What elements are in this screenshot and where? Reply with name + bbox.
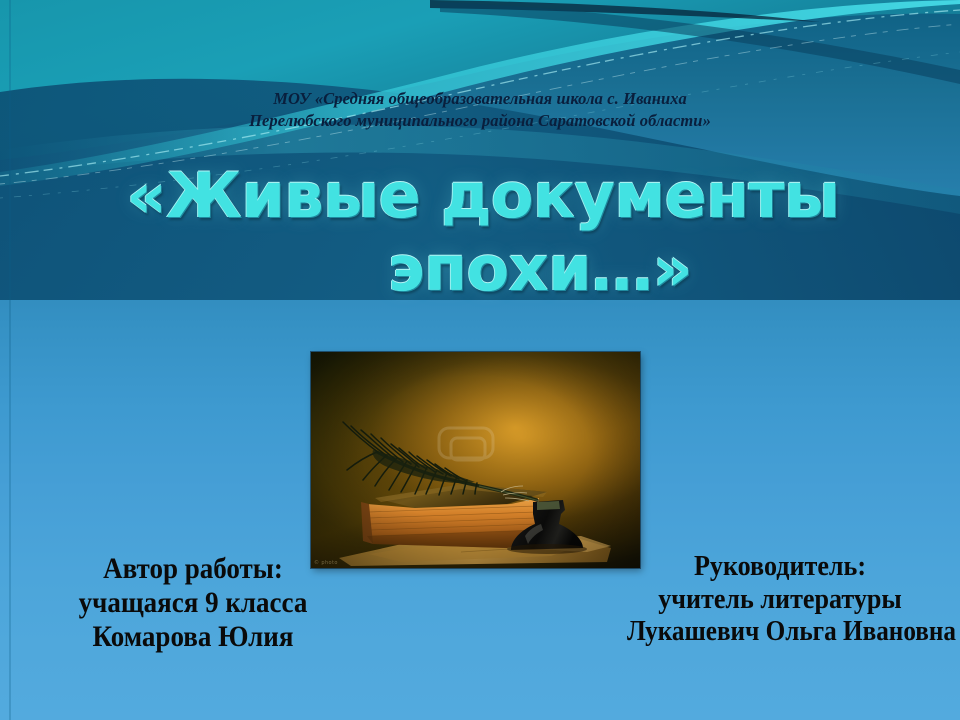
presentation-slide: МОУ «Средняя общеобразовательная школа с… [0,0,960,720]
book-quill-inkwell-photo: © photo [311,352,640,568]
supervisor-name: Лукашевич Ольга Ивановна [627,616,933,648]
author-name: Комарова Юлия [45,620,342,654]
supervisor-detail: учитель литературы [627,583,933,616]
institution-line-1: МОУ «Средняя общеобразовательная школа с… [0,88,960,110]
slide-title: «Живые документы эпохи…» [0,163,960,303]
teal-top-band [0,0,960,160]
navy-wisp-secondary [440,2,960,84]
photo-vignette [311,352,640,568]
title-line-2: эпохи…» [0,236,960,303]
institution-line-2: Перелюбского муниципального района Сарат… [0,110,960,132]
navy-wisp [430,0,820,22]
author-role: Автор работы: [45,552,342,586]
author-detail: учащаяся 9 класса [45,586,342,620]
title-line-1: «Живые документы [0,163,960,230]
institution-header: МОУ «Средняя общеобразовательная школа с… [0,88,960,132]
supervisor-role: Руководитель: [627,550,933,583]
supervisor-credit: Руководитель: учитель литературы Лукашев… [627,550,933,648]
author-credit: Автор работы: учащаяся 9 класса Комарова… [45,552,342,655]
